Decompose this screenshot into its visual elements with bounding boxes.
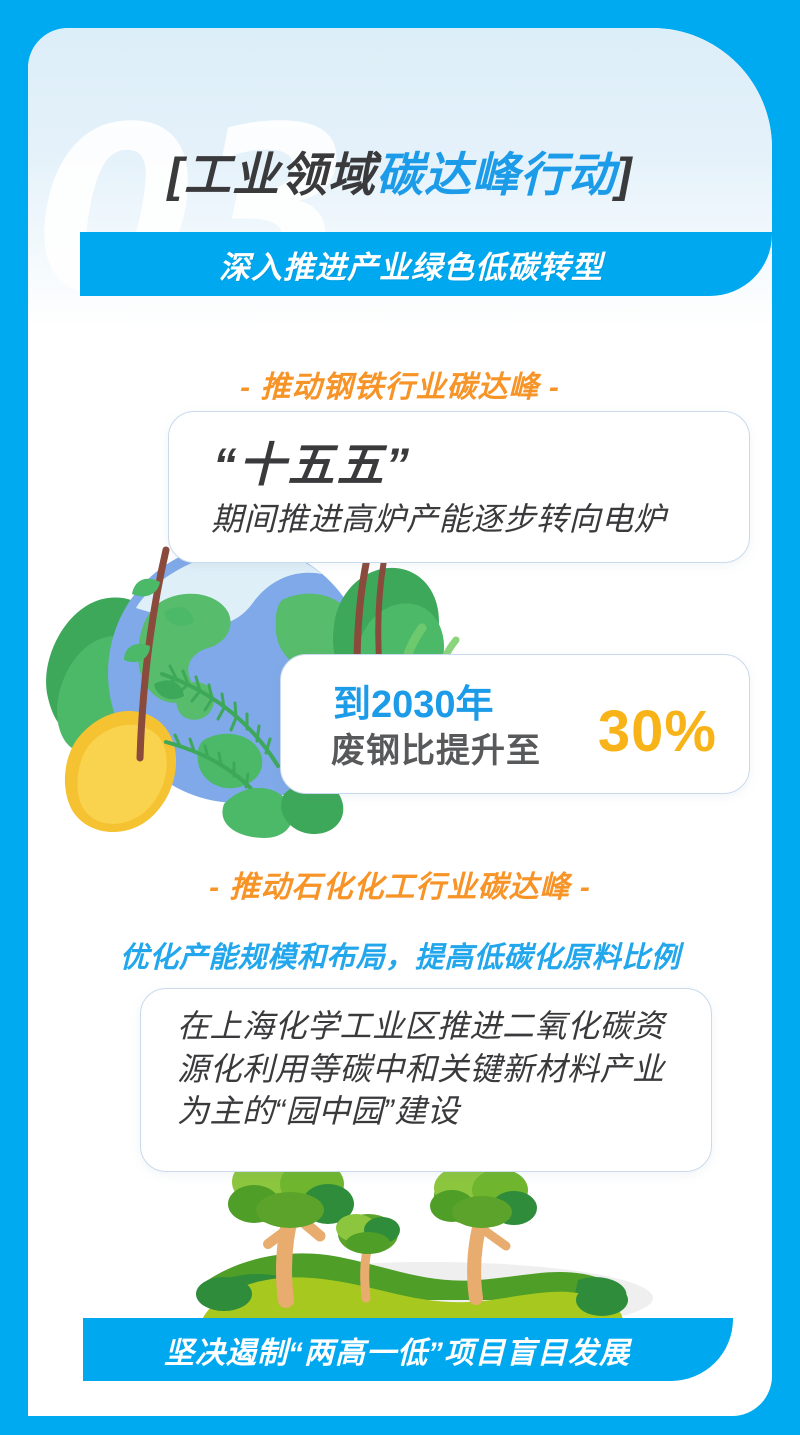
content-card-steel-2: 到2030年 废钢比提升至 30% (280, 654, 750, 794)
content-card-petrochem-1: 在上海化学工业区推进二氧化碳资源化利用等碳中和关键新材料产业为主的“园中园”建设 (140, 988, 712, 1172)
page-title: [工业领域碳达峰行动] (28, 136, 772, 205)
card1-headline: “十五五” (213, 426, 411, 495)
content-card-steel-1: “十五五” 期间推进高炉产能逐步转向电炉 (168, 411, 750, 563)
card2-body: 废钢比提升至 (331, 723, 541, 772)
header-banner: 深入推进产业绿色低碳转型 (80, 232, 772, 296)
footer-banner-label: 坚决遏制“两高一低”项目盲目发展 (164, 1328, 630, 1372)
section-heading-steel: - 推动钢铁行业碳达峰 - (28, 362, 772, 406)
section-heading-petrochem: - 推动石化化工行业碳达峰 - (28, 862, 772, 906)
card2-percentage-highlight: 30% (598, 703, 717, 761)
title-dark-text: 工业领域 (184, 148, 376, 201)
title-close-bracket: ] (616, 148, 633, 201)
card3-body: 在上海化学工业区推进二氧化碳资源化利用等碳中和关键新材料产业为主的“园中园”建设 (177, 1005, 695, 1133)
title-open-bracket: [ (167, 148, 184, 201)
footer-banner: 坚决遏制“两高一低”项目盲目发展 (83, 1318, 733, 1381)
trees-hill-illustration (178, 1148, 658, 1338)
header-banner-label: 深入推进产业绿色低碳转型 (219, 242, 603, 287)
section-subheading-petrochem: 优化产能规模和布局，提高低碳化原料比例 (28, 934, 772, 976)
card2-year-label: 到2030年 (333, 673, 494, 728)
card1-body: 期间推进高炉产能逐步转向电炉 (211, 494, 666, 540)
title-blue-text: 碳达峰行动 (376, 148, 616, 201)
page-background: 03 [工业领域碳达峰行动] 深入推进产业绿色低碳转型 (0, 0, 800, 1435)
main-card: 03 [工业领域碳达峰行动] 深入推进产业绿色低碳转型 (28, 28, 772, 1416)
